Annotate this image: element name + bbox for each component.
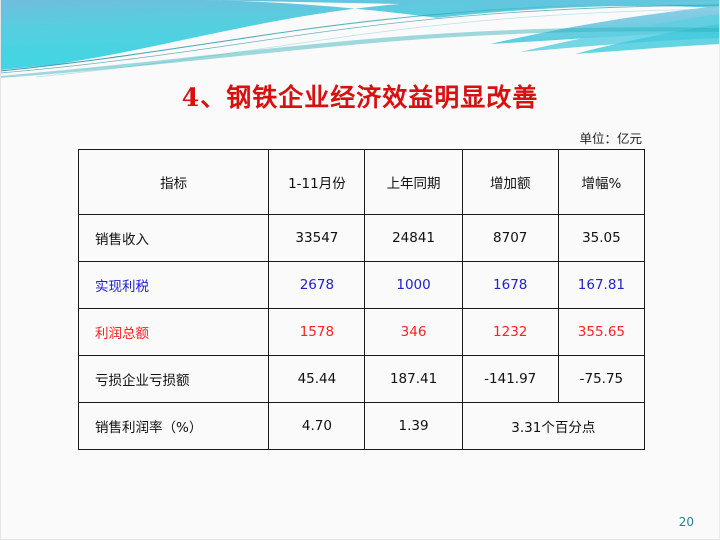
column-header-prior-year: 上年同期 [365, 150, 462, 215]
cell-increase: 1678 [462, 262, 558, 309]
row-label: 实现利税 [79, 262, 269, 309]
cell-jan-nov: 45.44 [269, 356, 365, 403]
row-label: 亏损企业亏损额 [79, 356, 269, 403]
cell-prior-year: 1000 [365, 262, 462, 309]
cell-growth-pct: 167.81 [558, 262, 644, 309]
cell-increase: 8707 [462, 215, 558, 262]
table-header-row: 指标 1-11月份 上年同期 增加额 增幅% [79, 150, 645, 215]
page-number: 20 [679, 515, 694, 529]
row-label: 销售收入 [79, 215, 269, 262]
table-row: 实现利税 2678 1000 1678 167.81 [79, 262, 645, 309]
cell-prior-year: 1.39 [365, 403, 462, 450]
cell-prior-year: 24841 [365, 215, 462, 262]
cell-jan-nov: 4.70 [269, 403, 365, 450]
cell-prior-year: 187.41 [365, 356, 462, 403]
economic-indicators-table: 指标 1-11月份 上年同期 增加额 增幅% 销售收入 33547 24841 … [78, 149, 645, 450]
cell-growth-pct: 355.65 [558, 309, 644, 356]
row-label: 销售利润率（%） [79, 403, 269, 450]
cell-prior-year: 346 [365, 309, 462, 356]
table-row: 利润总额 1578 346 1232 355.65 [79, 309, 645, 356]
cell-jan-nov: 33547 [269, 215, 365, 262]
slide-title: 4、钢铁企业经济效益明显改善 [0, 78, 720, 114]
unit-note: 单位：亿元 [579, 128, 642, 147]
cell-jan-nov: 2678 [269, 262, 365, 309]
presentation-slide: 4、钢铁企业经济效益明显改善 单位：亿元 指标 1-11月份 上年同期 增加额 … [0, 0, 720, 540]
decorative-wave-banner [0, 0, 720, 78]
table-row: 亏损企业亏损额 45.44 187.41 -141.97 -75.75 [79, 356, 645, 403]
cell-growth-pct: -75.75 [558, 356, 644, 403]
column-header-growth-pct: 增幅% [558, 150, 644, 215]
column-header-jan-nov: 1-11月份 [269, 150, 365, 215]
table-row: 销售收入 33547 24841 8707 35.05 [79, 215, 645, 262]
row-label: 利润总额 [79, 309, 269, 356]
cell-increase: -141.97 [462, 356, 558, 403]
cell-change-note: 3.31个百分点 [462, 403, 644, 450]
cell-growth-pct: 35.05 [558, 215, 644, 262]
column-header-indicator: 指标 [79, 150, 269, 215]
banner-wave-graphic [0, 0, 720, 78]
column-header-increase: 增加额 [462, 150, 558, 215]
cell-increase: 1232 [462, 309, 558, 356]
table-row: 销售利润率（%） 4.70 1.39 3.31个百分点 [79, 403, 645, 450]
cell-jan-nov: 1578 [269, 309, 365, 356]
